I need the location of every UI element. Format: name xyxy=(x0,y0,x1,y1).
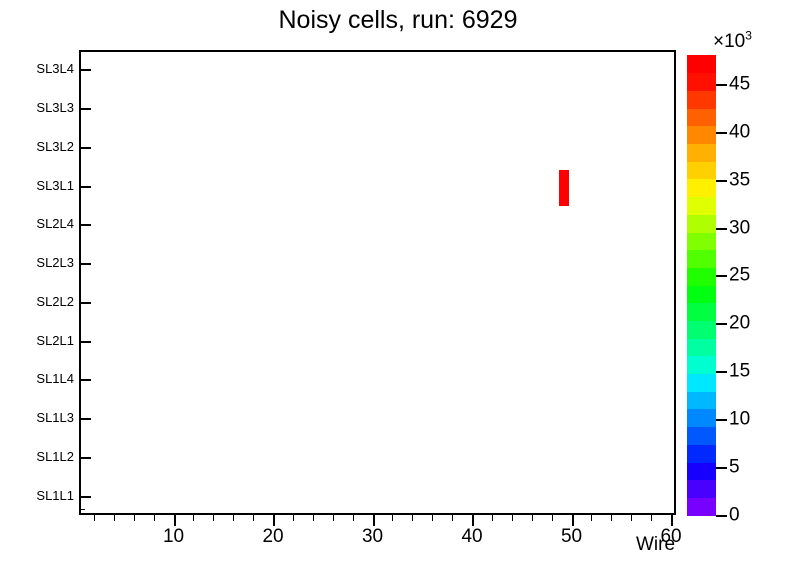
page-title: Noisy cells, run: 6929 xyxy=(0,6,796,34)
palette-band xyxy=(687,480,716,498)
palette-band xyxy=(687,179,716,197)
palette-band xyxy=(687,73,716,91)
x-axis-title: Wire xyxy=(636,535,675,555)
x-axis-minor-tick xyxy=(512,515,513,521)
x-axis-minor-tick xyxy=(154,515,155,521)
y-axis-label: SL2L4 xyxy=(0,217,74,230)
z-axis-tick xyxy=(716,371,727,373)
x-axis-tick-label: 50 xyxy=(561,527,582,547)
x-axis-minor-tick xyxy=(432,515,433,521)
z-axis-exponent: ×103 xyxy=(713,32,752,51)
palette-band xyxy=(687,285,716,303)
plot-area xyxy=(81,52,674,513)
y-axis-tick xyxy=(79,379,91,381)
x-axis-minor-tick xyxy=(412,515,413,521)
x-axis-tick-label: 40 xyxy=(461,527,482,547)
x-axis-minor-tick xyxy=(611,515,612,521)
palette-band xyxy=(687,303,716,321)
x-axis-tick xyxy=(572,515,574,526)
x-axis-minor-tick xyxy=(94,515,95,521)
y-axis-tick xyxy=(79,147,91,149)
palette-band xyxy=(687,90,716,108)
y-axis-tick xyxy=(79,224,91,226)
plot-frame xyxy=(79,50,676,515)
y-axis-label: SL3L3 xyxy=(0,101,74,114)
y-axis-label: SL1L3 xyxy=(0,411,74,424)
palette-band xyxy=(687,197,716,215)
x-axis-minor-tick xyxy=(134,515,135,521)
z-axis-tick xyxy=(716,515,727,517)
x-axis-tick xyxy=(373,515,375,526)
palette-band xyxy=(687,356,716,374)
z-axis-tick-label: 5 xyxy=(729,458,740,477)
y-axis-tick xyxy=(79,108,91,110)
y-axis-label: SL1L1 xyxy=(0,489,74,502)
palette-band xyxy=(687,232,716,250)
x-axis-minor-tick xyxy=(193,515,194,521)
color-palette[interactable] xyxy=(687,55,716,515)
z-axis-tick-label: 20 xyxy=(729,314,750,333)
x-axis-minor-tick xyxy=(492,515,493,521)
x-axis-minor-tick xyxy=(452,515,453,521)
z-axis-tick xyxy=(716,323,727,325)
palette-band xyxy=(687,126,716,144)
x-axis-tick-label: 10 xyxy=(163,527,184,547)
z-axis-tick-label: 10 xyxy=(729,410,750,429)
palette-band xyxy=(687,161,716,179)
y-axis-tick xyxy=(79,457,91,459)
palette-band xyxy=(687,409,716,427)
x-axis-minor-tick xyxy=(552,515,553,521)
x-axis-minor-tick xyxy=(253,515,254,521)
y-axis-tick xyxy=(79,186,91,188)
z-axis-tick-label: 15 xyxy=(729,362,750,381)
y-axis-tick xyxy=(79,341,91,343)
x-axis-tick-label: 20 xyxy=(262,527,283,547)
z-axis-tick-label: 0 xyxy=(729,506,740,525)
x-axis-minor-tick xyxy=(532,515,533,521)
palette-band xyxy=(687,55,716,73)
y-axis-tick xyxy=(79,69,91,71)
z-exponent-base: ×10 xyxy=(713,31,745,52)
x-axis-minor-tick xyxy=(392,515,393,521)
x-axis-tick xyxy=(671,515,673,526)
y-axis-label: SL2L3 xyxy=(0,256,74,269)
z-axis-tick xyxy=(716,275,727,277)
x-axis-minor-tick xyxy=(114,515,115,521)
z-axis-tick-label: 45 xyxy=(729,74,750,93)
x-axis-minor-tick xyxy=(651,515,652,521)
x-axis-minor-tick xyxy=(591,515,592,521)
y-axis-tick xyxy=(79,496,91,498)
root-canvas: Noisy cells, run: 6929 SL1L1SL1L2SL1L3SL… xyxy=(0,0,796,572)
plot-title-text: Noisy cells, run: 6929 xyxy=(278,6,517,34)
palette-band xyxy=(687,214,716,232)
palette-band xyxy=(687,267,716,285)
x-axis-minor-tick xyxy=(293,515,294,521)
palette-bar xyxy=(687,55,716,515)
x-axis-minor-tick xyxy=(333,515,334,521)
palette-band xyxy=(687,497,716,515)
z-axis-tick xyxy=(716,132,727,134)
y-axis-tick xyxy=(79,302,91,304)
z-axis-tick xyxy=(716,84,727,86)
z-axis-tick xyxy=(716,180,727,182)
y-axis-label: SL2L2 xyxy=(0,295,74,308)
x-axis-tick xyxy=(472,515,474,526)
palette-band xyxy=(687,108,716,126)
palette-band xyxy=(687,143,716,161)
x-axis-tick-label: 30 xyxy=(362,527,383,547)
palette-band xyxy=(687,320,716,338)
y-axis-label: SL3L2 xyxy=(0,140,74,153)
z-axis-tick-label: 40 xyxy=(729,122,750,141)
y-axis-label: SL3L1 xyxy=(0,179,74,192)
z-axis-tick xyxy=(716,419,727,421)
palette-band xyxy=(687,444,716,462)
palette-band xyxy=(687,391,716,409)
y-axis-minor-tick xyxy=(79,509,85,510)
x-axis-tick xyxy=(174,515,176,526)
z-exponent-power: 3 xyxy=(745,29,752,43)
y-axis-tick xyxy=(79,418,91,420)
y-axis-label: SL1L4 xyxy=(0,372,74,385)
y-axis-label: SL3L4 xyxy=(0,62,74,75)
x-axis-minor-tick xyxy=(213,515,214,521)
z-axis-tick xyxy=(716,228,727,230)
x-axis-minor-tick xyxy=(353,515,354,521)
x-axis-minor-tick xyxy=(233,515,234,521)
palette-band xyxy=(687,250,716,268)
x-axis-minor-tick xyxy=(313,515,314,521)
z-axis-tick-label: 30 xyxy=(729,218,750,237)
y-axis-tick xyxy=(79,263,91,265)
palette-band xyxy=(687,373,716,391)
heatmap-cell xyxy=(559,170,569,206)
x-axis-minor-tick xyxy=(631,515,632,521)
palette-band xyxy=(687,427,716,445)
palette-band xyxy=(687,338,716,356)
z-axis-tick xyxy=(716,467,727,469)
z-axis-tick-label: 25 xyxy=(729,266,750,285)
x-axis-tick xyxy=(273,515,275,526)
y-axis-label: SL1L2 xyxy=(0,450,74,463)
z-axis-tick-label: 35 xyxy=(729,170,750,189)
palette-band xyxy=(687,462,716,480)
y-axis-label: SL2L1 xyxy=(0,334,74,347)
